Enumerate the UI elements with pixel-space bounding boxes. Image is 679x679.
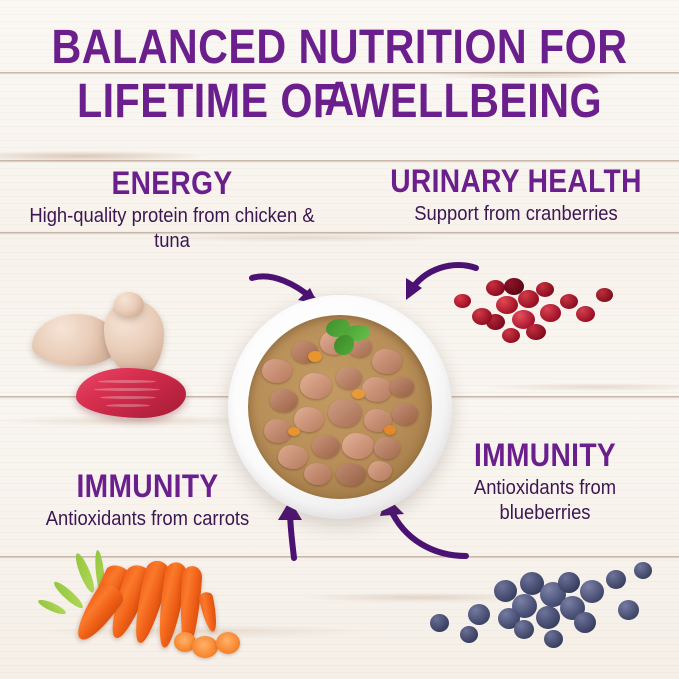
product-benefits-infographic: BALANCED NUTRITION FOR A LIFETIME OF WEL… [0,0,679,679]
benefit-urinary-heading: URINARY HEALTH [379,163,654,199]
food-surface [248,315,432,499]
headline-line-2: LIFETIME OF WELLBEING [48,76,632,128]
drumstick-knuckle [114,292,144,318]
cranberries-photo [448,276,618,348]
chicken-and-tuna-photo [18,292,218,432]
benefit-energy-heading: ENERGY [31,165,313,201]
benefit-carrots-body: Antioxidants from carrots [12,507,283,532]
blueberries-photo [402,558,650,666]
carrot-piece [352,389,365,399]
carrot-piece [308,351,322,362]
benefit-blueberries-body: Antioxidants from blueberries [430,476,660,526]
carrot-piece [384,425,396,435]
carrot-piece [288,427,300,436]
tuna-steak [76,368,186,418]
benefit-urinary-body: Support from cranberries [372,202,659,227]
benefit-immunity-blueberries: IMMUNITY Antioxidants from blueberries [420,437,670,526]
carrots-photo [34,548,304,679]
bowl-of-wet-cat-food [228,295,452,519]
benefit-carrots-heading: IMMUNITY [18,468,278,504]
benefit-urinary-health: URINARY HEALTH Support from cranberries [360,163,672,227]
benefit-blueberries-heading: IMMUNITY [435,437,655,473]
benefit-immunity-carrots: IMMUNITY Antioxidants from carrots [0,468,295,532]
benefit-energy-body: High-quality protein from chicken & tuna [25,204,319,254]
benefit-energy: ENERGY High-quality protein from chicken… [12,165,332,254]
